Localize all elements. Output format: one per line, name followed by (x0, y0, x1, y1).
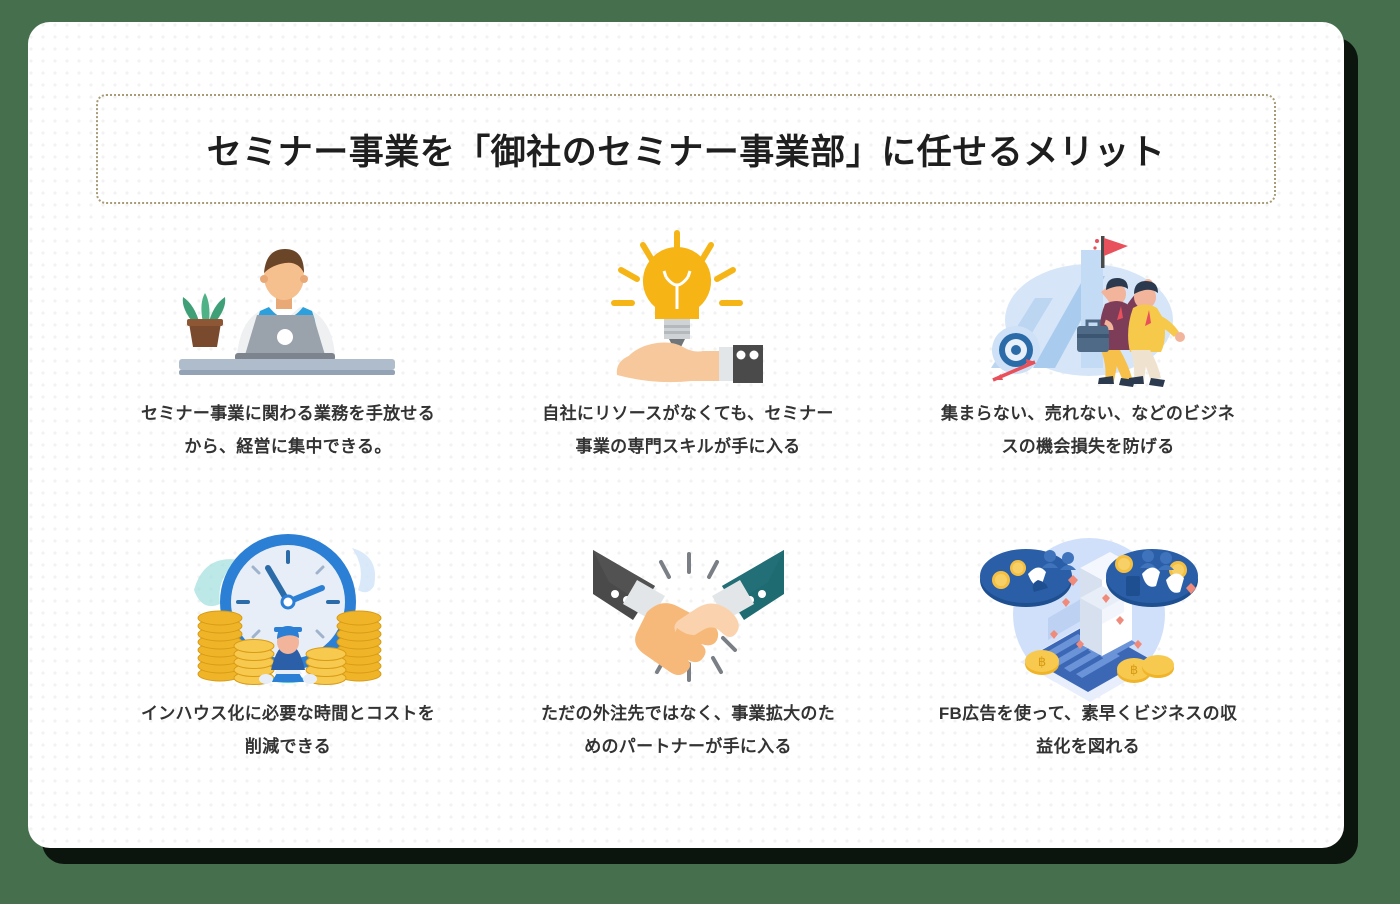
benefit-caption: FB広告を使って、素早くビジネスの収益化を図れる (938, 697, 1238, 763)
benefit-item-5: ただの外注先ではなく、事業拡大のためのパートナーが手に入る (488, 522, 888, 822)
facebook-ads-isometric-icon: ฿ ฿ (958, 522, 1218, 697)
benefit-item-6: ฿ ฿ FB広告を使って、素早くビジネスの収益化を図れる (888, 522, 1288, 822)
benefit-caption: セミナー事業に関わる業務を手放せるから、経営に集中できる。 (138, 397, 438, 463)
clock-with-coin-stacks-icon (158, 522, 418, 697)
page-title: セミナー事業を「御社のセミナー事業部」に任せるメリット (207, 124, 1166, 175)
person-at-desk-with-laptop-icon (158, 222, 418, 397)
benefit-item-2: 自社にリソースがなくても、セミナー事業の専門スキルが手に入る (488, 222, 888, 522)
benefit-caption: 自社にリソースがなくても、セミナー事業の専門スキルが手に入る (538, 397, 838, 463)
benefit-item-4: インハウス化に必要な時間とコストを削減できる (88, 522, 488, 822)
benefit-caption: インハウス化に必要な時間とコストを削減できる (138, 697, 438, 763)
content-card: セミナー事業を「御社のセミナー事業部」に任せるメリット (28, 22, 1344, 848)
title-banner: セミナー事業を「御社のセミナー事業部」に任せるメリット (96, 94, 1276, 204)
benefit-caption: 集まらない、売れない、などのビジネスの機会損失を防げる (938, 397, 1238, 463)
handshake-icon (558, 522, 818, 697)
svg-text:฿: ฿ (1037, 655, 1045, 670)
benefits-grid: セミナー事業に関わる業務を手放せるから、経営に集中できる。 (88, 222, 1288, 822)
benefit-item-1: セミナー事業に関わる業務を手放せるから、経営に集中できる。 (88, 222, 488, 522)
benefit-caption: ただの外注先ではなく、事業拡大のためのパートナーが手に入る (538, 697, 838, 763)
business-growth-flag-target-icon (958, 222, 1218, 397)
hand-holding-lightbulb-icon (558, 222, 818, 397)
svg-text:฿: ฿ (1129, 663, 1137, 678)
benefit-item-3: 集まらない、売れない、などのビジネスの機会損失を防げる (888, 222, 1288, 522)
